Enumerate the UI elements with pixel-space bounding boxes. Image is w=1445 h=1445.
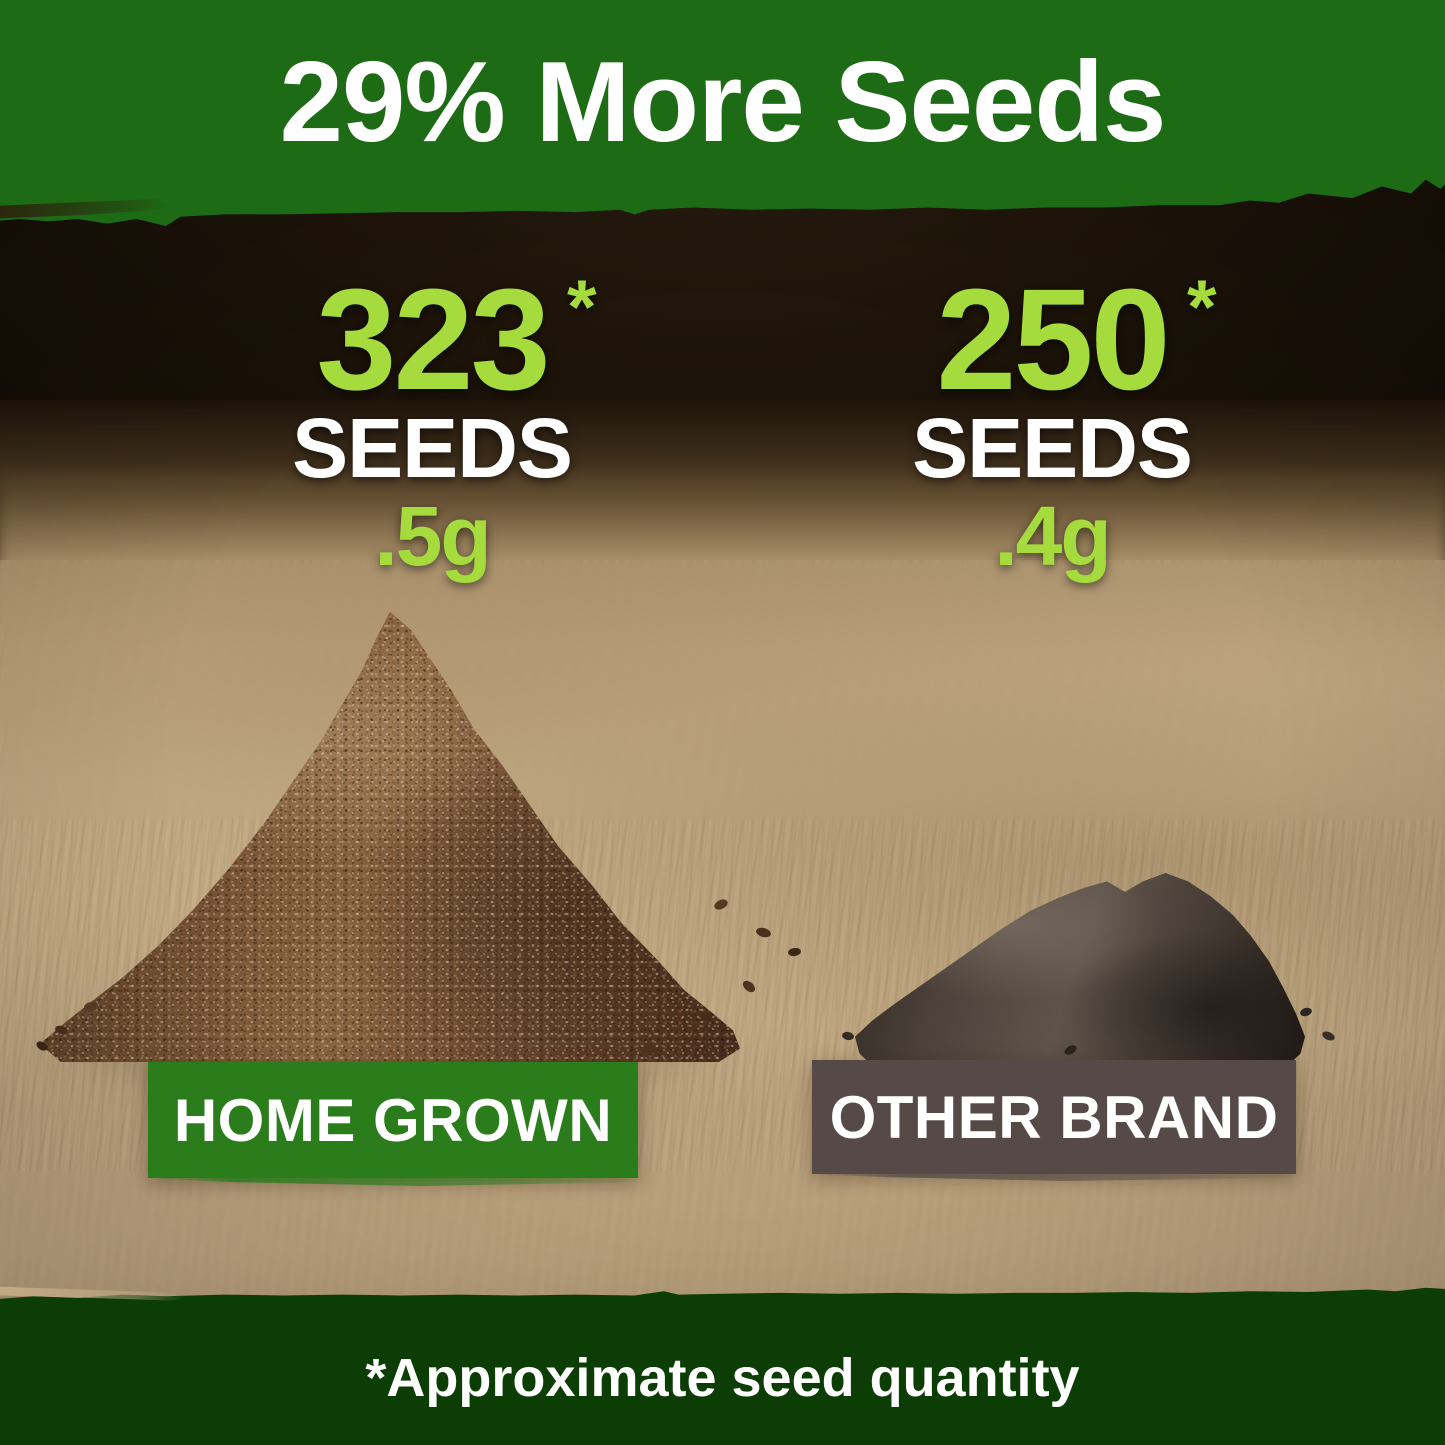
brand-label-other-brand: OTHER BRAND: [812, 1060, 1296, 1174]
brand-label-text-home-grown: HOME GROWN: [174, 1086, 612, 1155]
brand-label-home-grown: HOME GROWN: [148, 1062, 638, 1178]
seed-weight-right: .4g: [742, 494, 1362, 578]
stat-block-other-brand: 250 * SEEDS .4g: [742, 268, 1362, 578]
seed-weight-left: .5g: [112, 494, 752, 578]
infographic-canvas: 29% More Seeds 323 * SEEDS .5g 250 * SEE…: [0, 0, 1445, 1445]
seed-count-value-right: 250 *: [936, 268, 1167, 412]
seed-count-number-right: 250: [936, 259, 1167, 420]
asterisk-marker-left: *: [567, 270, 594, 346]
page-title: 29% More Seeds: [0, 46, 1445, 160]
seed-count-number-left: 323: [316, 259, 547, 420]
disclaimer-text: *Approximate seed quantity: [0, 1351, 1445, 1405]
stat-block-home-grown: 323 * SEEDS .5g: [112, 268, 752, 578]
seed-count-value-left: 323 *: [316, 268, 547, 412]
brand-label-text-other-brand: OTHER BRAND: [830, 1083, 1279, 1152]
asterisk-marker-right: *: [1187, 270, 1214, 346]
product-photo-scene: [0, 0, 1445, 1445]
